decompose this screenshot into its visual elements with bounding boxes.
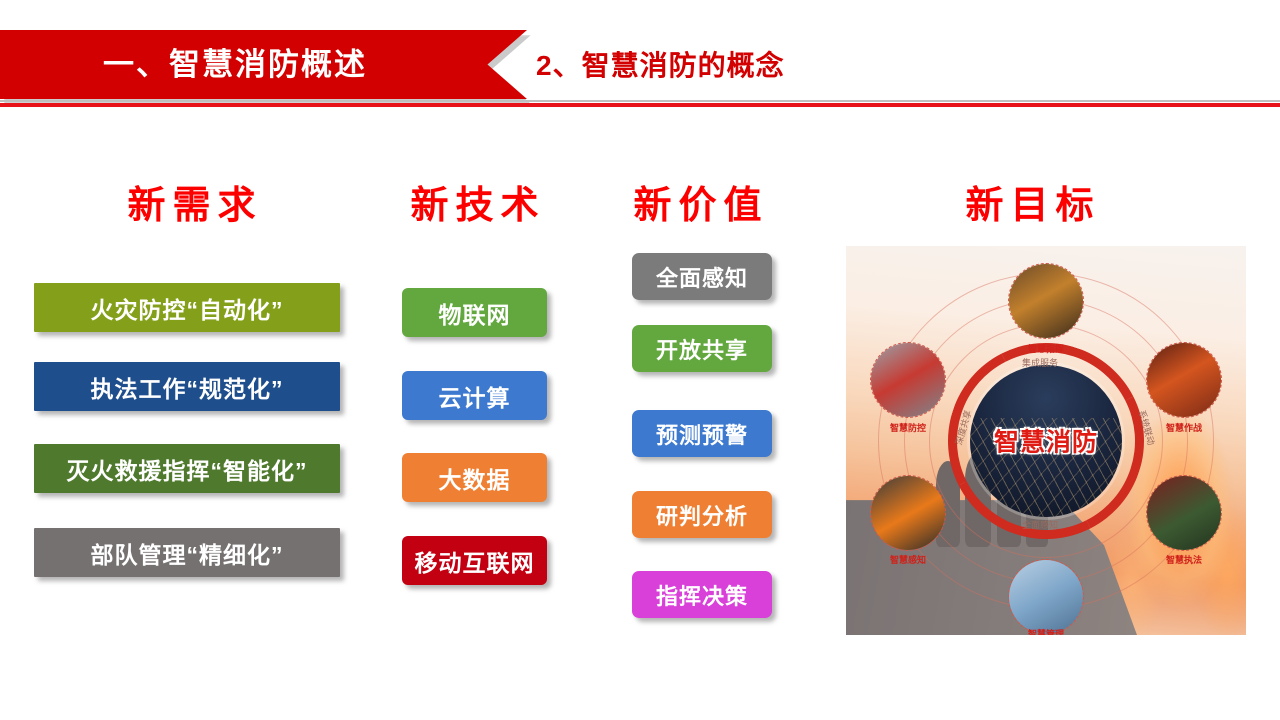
chip-demand-4[interactable]: 部队管理“精细化”	[34, 528, 340, 577]
chip-value-2[interactable]: 开放共享	[632, 325, 772, 372]
chip-value-1[interactable]: 全面感知	[632, 253, 772, 300]
node-smart-command	[1008, 263, 1084, 339]
chip-value-4[interactable]: 研判分析	[632, 491, 772, 538]
node-label-smart-operations: 智慧作战	[1129, 421, 1239, 434]
arc-label-top: 集成服务	[1022, 356, 1058, 369]
column-title-new-value: 新价值	[596, 174, 806, 229]
chip-demand-3[interactable]: 灭火救援指挥“智能化”	[34, 444, 340, 493]
column-title-new-demand: 新需求	[60, 174, 330, 229]
chip-value-3[interactable]: 预测预警	[632, 410, 772, 457]
column-title-new-technology: 新技术	[378, 174, 578, 229]
node-label-smart-sensing: 智慧感知	[853, 553, 963, 566]
node-smart-prevention	[870, 342, 946, 418]
header-banner: 一、智慧消防概述	[0, 30, 527, 99]
chip-tech-2[interactable]: 云计算	[402, 371, 547, 420]
column-title-new-goal: 新目标	[898, 174, 1168, 229]
header-rule-red	[0, 103, 1280, 107]
chip-demand-1[interactable]: 火灾防控“自动化”	[34, 283, 340, 332]
smart-firefighting-diagram-image: 智慧消防 集成服务 全面感知 深度共享 系统联动 智慧指挥 智慧防控 智慧作战 …	[846, 246, 1246, 635]
node-label-smart-command: 智慧指挥	[991, 342, 1101, 355]
node-label-smart-prevention: 智慧防控	[853, 421, 963, 434]
node-smart-sensing	[870, 475, 946, 551]
chip-tech-4[interactable]: 移动互联网	[402, 536, 547, 585]
chip-tech-1[interactable]: 物联网	[402, 288, 547, 337]
chip-demand-2[interactable]: 执法工作“规范化”	[34, 362, 340, 411]
chip-value-5[interactable]: 指挥决策	[632, 571, 772, 618]
slide-header: 一、智慧消防概述 2、智慧消防的概念	[0, 0, 1280, 112]
node-smart-operations	[1146, 342, 1222, 418]
node-smart-enforcement	[1146, 475, 1222, 551]
chip-tech-3[interactable]: 大数据	[402, 453, 547, 502]
node-label-smart-enforcement: 智慧执法	[1129, 553, 1239, 566]
header-subtitle: 2、智慧消防的概念	[536, 44, 785, 84]
header-banner-title: 一、智慧消防概述	[0, 30, 470, 99]
node-label-smart-management: 智慧管理	[991, 627, 1101, 635]
arc-label-bottom: 全面感知	[1022, 518, 1058, 531]
header-rule-gray	[0, 100, 1280, 102]
node-smart-management	[1008, 559, 1084, 635]
